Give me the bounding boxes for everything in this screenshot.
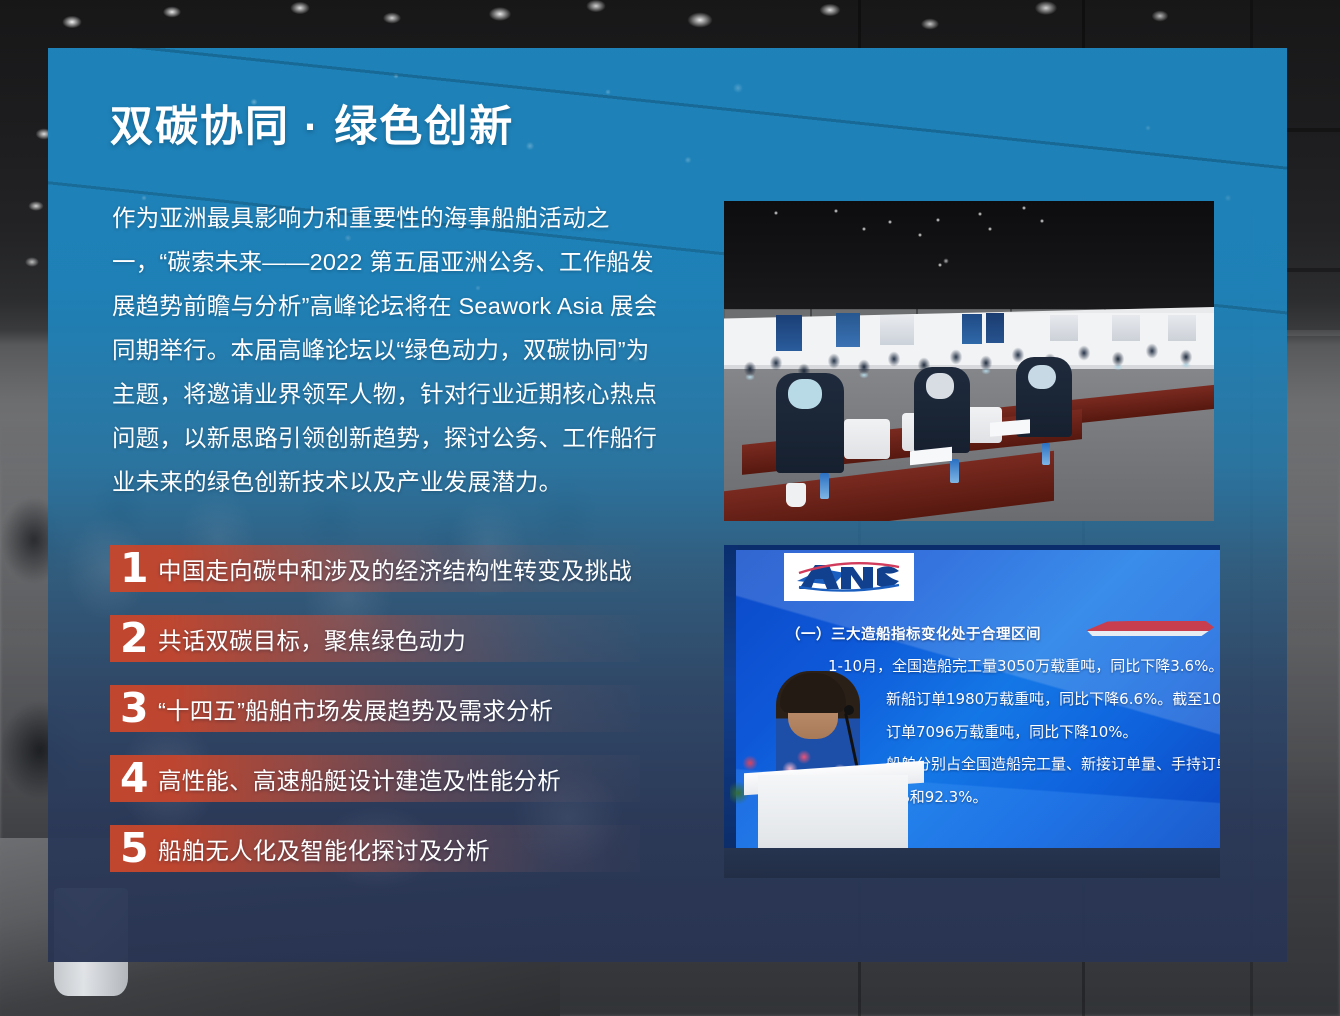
speaker-photo: （一）三大造船指标变化处于合理区间 1-10月，全国造船完工量3050万载重吨，… (724, 545, 1220, 878)
agenda-label: 船舶无人化及智能化探讨及分析 (158, 832, 490, 866)
agenda-label: “十四五”船舶市场发展趋势及需求分析 (158, 692, 553, 726)
audience-face-mask (926, 373, 954, 399)
agenda-label: 共话双碳目标，聚焦绿色动力 (158, 622, 466, 656)
agenda-label: 高性能、高速船艇设计建造及性能分析 (158, 762, 561, 796)
ansi-logo (784, 553, 914, 601)
audience-ceiling-lights (724, 201, 1214, 313)
agenda-label: 中国走向碳中和涉及的经济结构性转变及挑战 (158, 552, 632, 586)
audience-water-bottle (950, 459, 959, 483)
list-item: 4 高性能、高速船艇设计建造及性能分析 (110, 755, 710, 802)
audience-water-bottle (820, 473, 829, 499)
audience-chair (844, 419, 890, 459)
body-paragraph: 作为亚洲最具影响力和重要性的海事船舶活动之一，“碳索未来——2022 第五届亚洲… (112, 196, 660, 504)
slide-line: 1-10月，全国造船完工量3050万载重吨，同比下降3.6%。 (786, 657, 1214, 676)
list-item: 2 共话双碳目标，聚焦绿色动力 (110, 615, 710, 662)
list-item: 5 船舶无人化及智能化探讨及分析 (110, 825, 710, 872)
agenda-list: 1 中国走向碳中和涉及的经济结构性转变及挑战 2 共话双碳目标，聚焦绿色动力 3… (110, 545, 710, 895)
audience-paper-cup (786, 483, 806, 507)
speaker-photo-bottom-bar (724, 848, 1220, 878)
agenda-number: 1 (110, 548, 158, 589)
audience-face-mask (1028, 365, 1056, 389)
audience-water-bottle (1042, 443, 1050, 465)
agenda-number: 5 (110, 828, 158, 869)
content-panel: 双碳协同 · 绿色创新 作为亚洲最具影响力和重要性的海事船舶活动之一，“碳索未来… (48, 48, 1287, 962)
audience-face-mask (788, 379, 822, 409)
audience-photo (724, 201, 1214, 521)
agenda-number: 2 (110, 618, 158, 659)
slide-root: 双碳协同 · 绿色创新 作为亚洲最具影响力和重要性的海事船舶活动之一，“碳索未来… (0, 0, 1340, 1016)
page-title: 双碳协同 · 绿色创新 (110, 92, 514, 154)
list-item: 3 “十四五”船舶市场发展趋势及需求分析 (110, 685, 710, 732)
list-item: 1 中国走向碳中和涉及的经济结构性转变及挑战 (110, 545, 710, 592)
agenda-number: 4 (110, 758, 158, 799)
agenda-number: 3 (110, 688, 158, 729)
slide-heading: （一）三大造船指标变化处于合理区间 (786, 623, 1214, 644)
microphone-head (844, 705, 854, 715)
